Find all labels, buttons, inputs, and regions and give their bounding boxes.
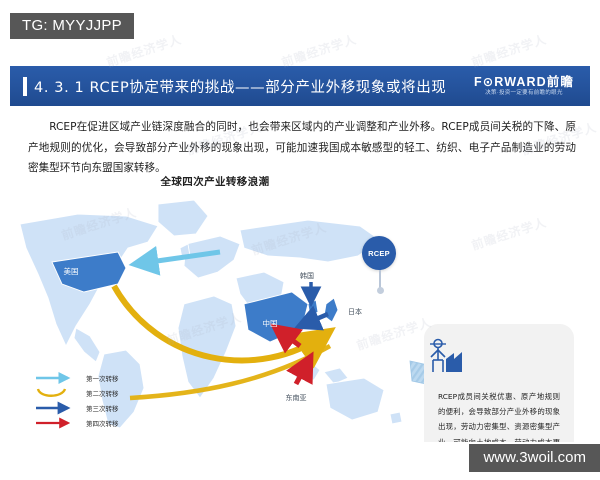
map-label-usa: 美国 bbox=[64, 266, 79, 276]
legend-item: 第一次转移 bbox=[32, 370, 152, 385]
url-watermark-tag: www.3woil.com bbox=[469, 444, 600, 472]
legend-swatch-third bbox=[32, 401, 78, 415]
page-title: 4. 3. 1 RCEP协定带来的挑战——部分产业外移现象或将出现 bbox=[34, 76, 446, 97]
map-label-china: 中国 bbox=[263, 318, 278, 328]
figure-block: 全球四次产业转移浪潮 bbox=[0, 174, 600, 442]
insight-card-text: RCEP成员间关税优惠、原产地规则的便利，会导致部分产业外移的现象出现，劳动力密… bbox=[424, 389, 574, 442]
map-label-southeast-asia: 东南亚 bbox=[286, 393, 307, 402]
slide-header-bar: 4. 3. 1 RCEP协定带来的挑战——部分产业外移现象或将出现 F⊙RWAR… bbox=[10, 66, 590, 106]
factory-worker-icon bbox=[424, 338, 464, 374]
slide-canvas: 4. 3. 1 RCEP协定带来的挑战——部分产业外移现象或将出现 F⊙RWAR… bbox=[0, 62, 600, 442]
brand-logo: F⊙RWARD前瞻 决策·投资一定要有前瞻的眼光 bbox=[474, 76, 574, 97]
rcep-map-pin: RCEP bbox=[362, 236, 398, 296]
tg-tag: TG: MYYJJPP bbox=[10, 13, 134, 39]
logo-wordmark: F⊙RWARD前瞻 bbox=[474, 76, 574, 89]
rcep-pin-base-dot bbox=[377, 287, 384, 294]
legend-item: 第四次转移 bbox=[32, 415, 152, 430]
legend-label-second: 第二次转移 bbox=[86, 388, 119, 398]
body-paragraph: RCEP在促进区域产业链深度融合的同时，也会带来区域内的产业调整和产业外移。RC… bbox=[28, 117, 576, 179]
legend-item: 第二次转移 bbox=[32, 385, 152, 400]
logo-tagline: 决策·投资一定要有前瞻的眼光 bbox=[474, 91, 574, 97]
legend-label-first: 第一次转移 bbox=[86, 373, 119, 383]
rcep-pin-label: RCEP bbox=[362, 236, 396, 270]
legend-swatch-second bbox=[32, 386, 78, 400]
insight-card: RCEP成员间关税优惠、原产地规则的便利，会导致部分产业外移的现象出现，劳动力密… bbox=[424, 324, 574, 442]
legend-swatch-first bbox=[32, 371, 78, 385]
legend-item: 第三次转移 bbox=[32, 400, 152, 415]
header-accent-bar bbox=[23, 77, 27, 96]
legend-swatch-fourth bbox=[32, 416, 78, 430]
map-label-japan: 日本 bbox=[348, 307, 362, 316]
legend-label-fourth: 第四次转移 bbox=[86, 418, 119, 428]
map-label-korea: 韩国 bbox=[300, 271, 314, 280]
figure-legend: 第一次转移 第二次转移 第三次转移 第四次转移 bbox=[32, 370, 152, 430]
legend-label-third: 第三次转移 bbox=[86, 403, 119, 413]
